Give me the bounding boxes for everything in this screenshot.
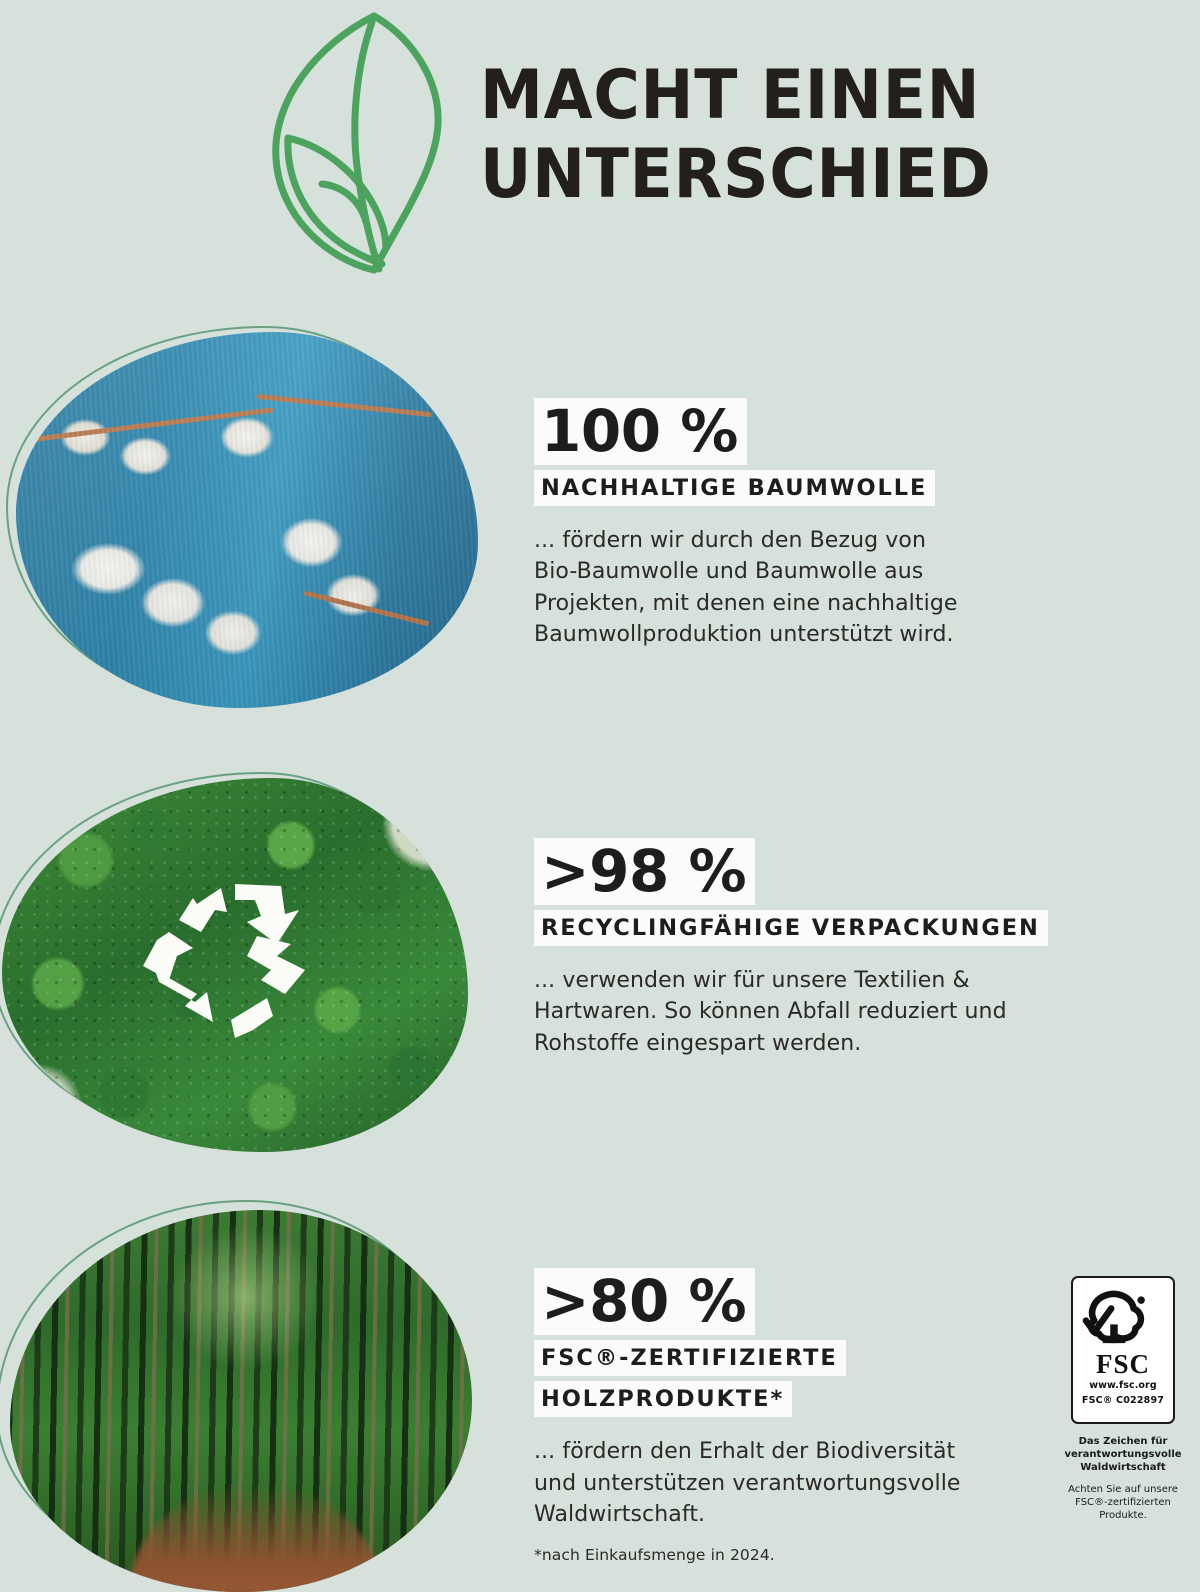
- media-cotton: [6, 326, 476, 708]
- body-line: Bio-Baumwolle und Baumwolle aus: [534, 556, 1094, 587]
- body-line: Rohstoffe eingespart werden.: [534, 1028, 1114, 1059]
- forest-trail: [130, 1485, 379, 1592]
- body-line: Projekten, mit denen eine nachhaltige: [534, 588, 1094, 619]
- subtitle-line: RECYCLINGFÄHIGE VERPACKUNGEN: [534, 910, 1048, 946]
- content-packaging: >98 % RECYCLINGFÄHIGE VERPACKUNGEN ... v…: [534, 838, 1114, 1059]
- body-line: ... verwenden wir für unsere Textilien &: [534, 965, 1114, 996]
- fsc-url: www.fsc.org: [1073, 1380, 1173, 1391]
- photo-forest-canopy: [2, 778, 468, 1152]
- stat-value: >98 %: [534, 838, 755, 905]
- fsc-license-code: FSC® C022897: [1073, 1395, 1173, 1406]
- subtitle-line: HOLZPRODUKTE*: [534, 1381, 792, 1417]
- fsc-card: FSC www.fsc.org FSC® C022897: [1071, 1276, 1175, 1424]
- fsc-logo: FSC www.fsc.org FSC® C022897 Das Zeichen…: [1062, 1276, 1184, 1523]
- fsc-wordmark: FSC: [1073, 1351, 1173, 1378]
- fsc-tree-checkmark-icon: [1073, 1287, 1173, 1350]
- stat-value: 100 %: [534, 398, 747, 465]
- stat-subtitle: RECYCLINGFÄHIGE VERPACKUNGEN: [534, 910, 1114, 946]
- body-line: und unterstützen verantwortungsvolle: [534, 1468, 1094, 1499]
- body-copy: ... fördern wir durch den Bezug von Bio-…: [534, 525, 1094, 650]
- media-forest: [0, 1200, 470, 1592]
- stat-value: >80 %: [534, 1268, 755, 1335]
- subtitle-line: NACHHALTIGE BAUMWOLLE: [534, 470, 935, 506]
- photo-cotton-on-denim: [16, 332, 478, 708]
- content-cotton: 100 % NACHHALTIGE BAUMWOLLE ... fördern …: [534, 398, 1094, 650]
- two-leaf-icon: [262, 8, 452, 278]
- canopy-light: [167, 1225, 324, 1370]
- fsc-caption: Achten Sie auf unsere FSC®-zertifizierte…: [1062, 1483, 1184, 1523]
- footnote: *nach Einkaufsmenge in 2024.: [534, 1546, 775, 1564]
- stat-subtitle: FSC®-ZERTIFIZIERTE HOLZPRODUKTE*: [534, 1340, 1094, 1417]
- headline-line-1: MACHT EINEN: [480, 62, 1131, 129]
- body-copy: ... verwenden wir für unsere Textilien &…: [534, 965, 1114, 1059]
- subtitle-line: FSC®-ZERTIFIZIERTE: [534, 1340, 846, 1376]
- content-wood: >80 % FSC®-ZERTIFIZIERTE HOLZPRODUKTE* .…: [534, 1268, 1094, 1530]
- body-line: Hartwaren. So können Abfall reduziert un…: [534, 996, 1114, 1027]
- body-line: Waldwirtschaft.: [534, 1499, 1094, 1530]
- recycling-icon: [135, 870, 335, 1060]
- body-line: Baumwollproduktion unterstützt wird.: [534, 619, 1094, 650]
- body-copy: ... fördern den Erhalt der Biodiversität…: [534, 1436, 1094, 1530]
- media-recycling: [0, 772, 468, 1152]
- page-header: MACHT EINEN UNTERSCHIED: [0, 0, 1200, 300]
- stat-subtitle: NACHHALTIGE BAUMWOLLE: [534, 470, 1094, 506]
- headline-line-2: UNTERSCHIED: [480, 141, 1131, 208]
- body-line: ... fördern wir durch den Bezug von: [534, 525, 1094, 556]
- page-title: MACHT EINEN UNTERSCHIED: [480, 62, 1180, 209]
- fsc-caption-bold: Das Zeichen für verantwortungsvolle Wald…: [1062, 1435, 1184, 1474]
- body-line: ... fördern den Erhalt der Biodiversität: [534, 1436, 1094, 1467]
